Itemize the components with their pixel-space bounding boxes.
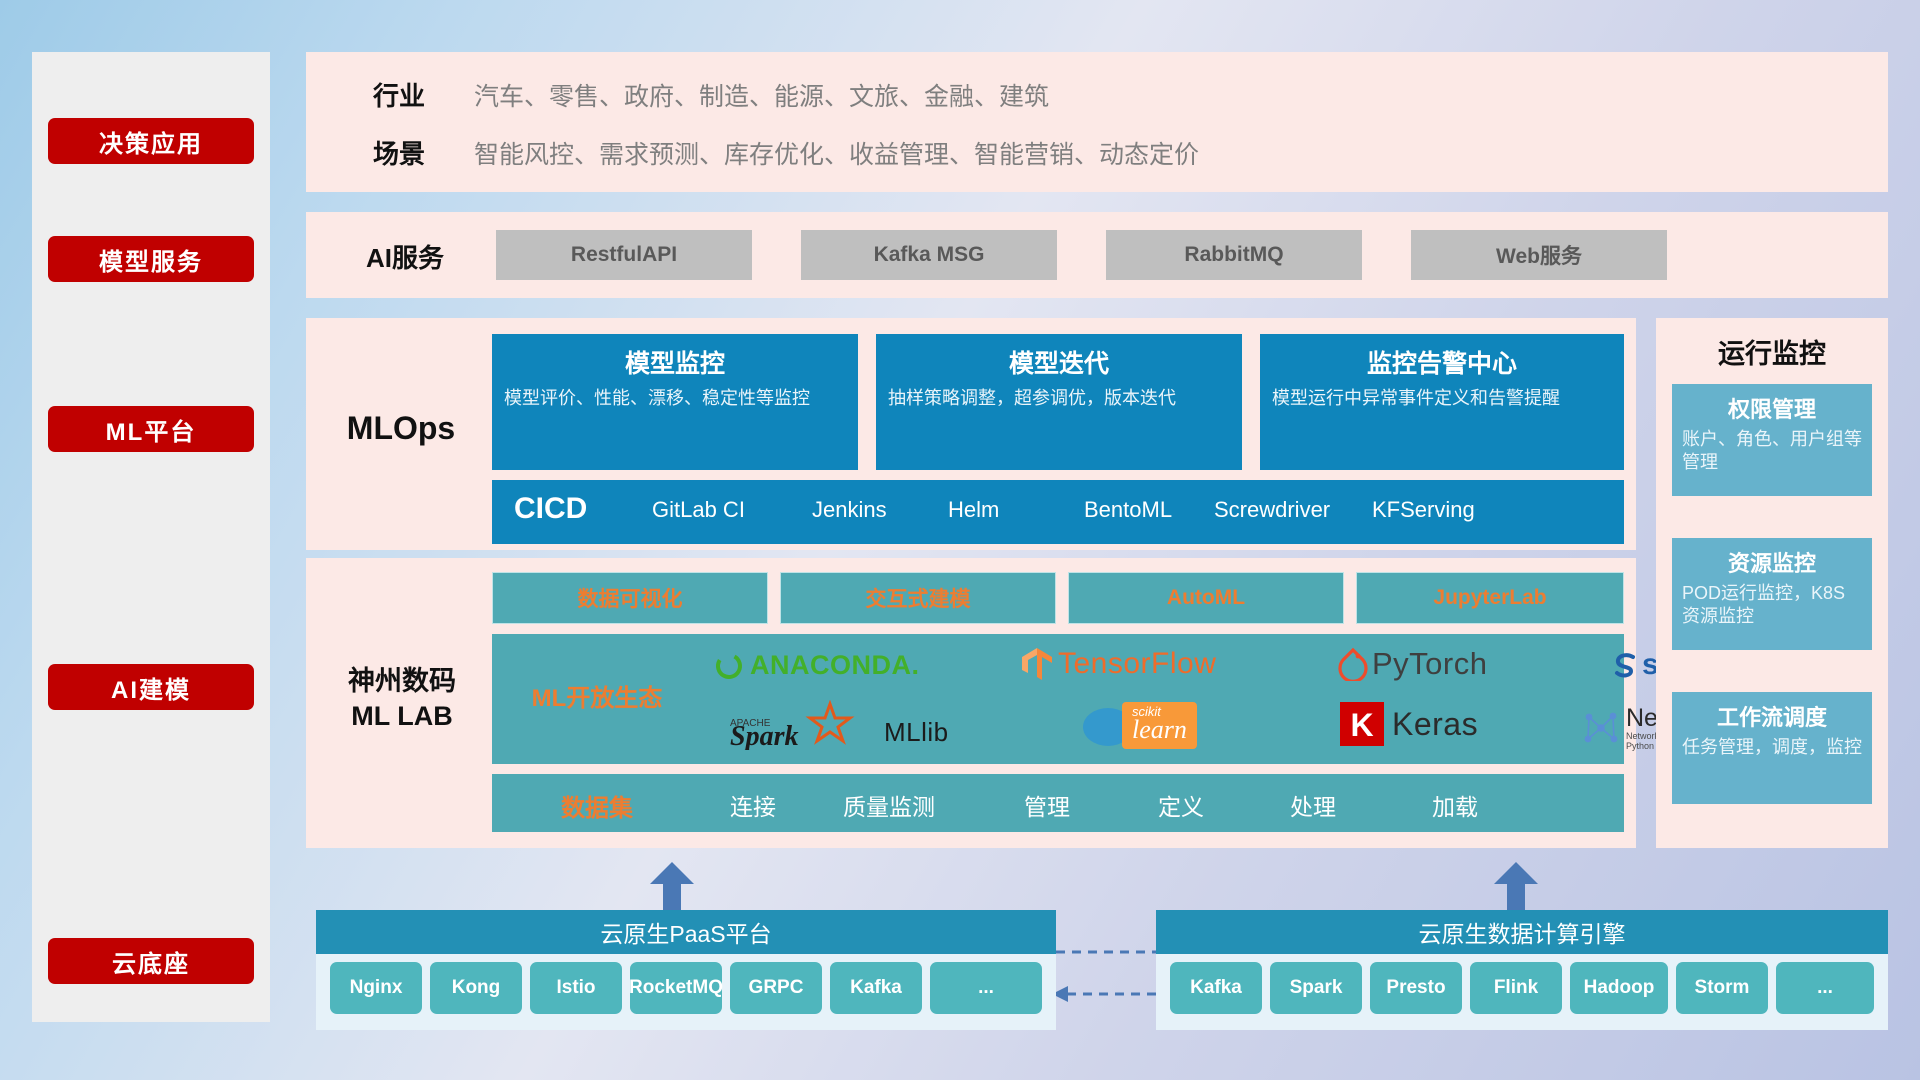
dataset-item-load[interactable]: 加载 (1390, 788, 1520, 822)
mlops-card-desc: 模型评价、性能、漂移、稳定性等监控 (504, 386, 846, 410)
industry-value: 汽车、零售、政府、制造、能源、文旅、金融、建筑 (474, 77, 1049, 113)
architecture-diagram: 决策应用 模型服务 ML平台 AI建模 云底座 行业 汽车、零售、政府、制造、能… (0, 0, 1920, 1080)
paas-chip-kafka[interactable]: Kafka (830, 962, 922, 1014)
compute-chip-hadoop[interactable]: Hadoop (1570, 962, 1668, 1014)
cicd-item-bentoml[interactable]: BentoML (1084, 496, 1196, 524)
keras-logo: K Keras (1340, 702, 1478, 746)
mlops-card-desc: 抽样策略调整，超参调优，版本迭代 (888, 386, 1230, 410)
service-chip-kafka-msg[interactable]: Kafka MSG (801, 230, 1057, 280)
paas-chip-nginx[interactable]: Nginx (330, 962, 422, 1014)
svg-text:Spark: Spark (730, 721, 798, 750)
mlops-card-model-monitoring[interactable]: 模型监控 模型评价、性能、漂移、稳定性等监控 (492, 334, 858, 470)
runtime-monitor-panel: 运行监控 权限管理 账户、角色、用户组等管理 资源监控 POD运行监控，K8S资… (1656, 318, 1888, 848)
compute-engine-group: 云原生数据计算引擎 Kafka Spark Presto Flink Hadoo… (1156, 910, 1888, 1030)
tool-chip-interactive-modeling[interactable]: 交互式建模 (780, 572, 1056, 624)
compute-chip-spark[interactable]: Spark (1270, 962, 1362, 1014)
anaconda-logo: ANACONDA. (714, 650, 920, 681)
ml-lab-label: 神州数码 ML LAB (312, 664, 492, 734)
scikit-learn-logo: scikit learn (1080, 702, 1197, 749)
stage-chip-cloud-base[interactable]: 云底座 (48, 938, 254, 984)
mlops-card-title: 模型监控 (504, 344, 846, 380)
industry-row: 行业 汽车、零售、政府、制造、能源、文旅、金融、建筑 (324, 76, 1049, 113)
monitor-card-resource[interactable]: 资源监控 POD运行监控，K8S资源监控 (1672, 538, 1872, 650)
monitor-card-title: 工作流调度 (1682, 700, 1862, 732)
compute-chip-kafka[interactable]: Kafka (1170, 962, 1262, 1014)
ml-ecosystem-label: ML开放生态 (512, 678, 682, 713)
stage-chip-model-service[interactable]: 模型服务 (48, 236, 254, 282)
compute-chip-presto[interactable]: Presto (1370, 962, 1462, 1014)
service-chip-rabbitmq[interactable]: RabbitMQ (1106, 230, 1362, 280)
runtime-monitor-title: 运行监控 (1656, 332, 1888, 371)
paas-chip-istio[interactable]: Istio (530, 962, 622, 1014)
paas-chip-kong[interactable]: Kong (430, 962, 522, 1014)
cicd-bar: CICD GitLab CI Jenkins Helm BentoML Scre… (492, 480, 1624, 544)
monitor-card-desc: POD运行监控，K8S资源监控 (1682, 582, 1862, 629)
tool-chip-automl[interactable]: AutoML (1068, 572, 1344, 624)
tensorflow-logo: TensorFlow (1020, 646, 1216, 682)
industry-key: 行业 (324, 76, 474, 113)
dataset-item-process[interactable]: 处理 (1248, 788, 1378, 822)
tensorflow-label: TensorFlow (1058, 647, 1216, 681)
service-chip-restfulapi[interactable]: RestfulAPI (496, 230, 752, 280)
service-chip-web-service[interactable]: Web服务 (1411, 230, 1667, 280)
anaconda-label: ANACONDA. (750, 650, 920, 681)
stage-chip-ml-platform[interactable]: ML平台 (48, 406, 254, 452)
monitor-card-desc: 账户、角色、用户组等管理 (1682, 428, 1862, 475)
dataset-item-quality[interactable]: 质量监测 (824, 788, 954, 822)
application-band: 行业 汽车、零售、政府、制造、能源、文旅、金融、建筑 场景 智能风控、需求预测、… (306, 52, 1888, 192)
cicd-item-screwdriver[interactable]: Screwdriver (1214, 496, 1326, 524)
keras-icon: K (1340, 702, 1384, 746)
stage-chip-decision[interactable]: 决策应用 (48, 118, 254, 164)
dataset-label: 数据集 (512, 788, 682, 823)
ai-service-label: AI服务 (330, 238, 480, 275)
arrow-up-compute-icon (1494, 862, 1538, 914)
stage-rail (32, 52, 270, 1022)
tool-chip-jupyterlab[interactable]: JupyterLab (1356, 572, 1624, 624)
paas-chip-rocketmq[interactable]: RocketMQ (630, 962, 722, 1014)
cicd-item-kfserving[interactable]: KFServing (1372, 496, 1484, 524)
mlops-card-alert-center[interactable]: 监控告警中心 模型运行中异常事件定义和告警提醒 (1260, 334, 1624, 470)
monitor-card-workflow[interactable]: 工作流调度 任务管理，调度，监控 (1672, 692, 1872, 804)
anaconda-icon (714, 651, 744, 681)
cicd-item-helm[interactable]: Helm (948, 496, 1060, 524)
networkx-icon (1580, 708, 1622, 748)
learn-label: learn (1132, 715, 1187, 745)
cicd-item-jenkins[interactable]: Jenkins (812, 496, 924, 524)
compute-chip-more[interactable]: ... (1776, 962, 1874, 1014)
scenario-row: 场景 智能风控、需求预测、库存优化、收益管理、智能营销、动态定价 (324, 134, 1199, 171)
compute-engine-title: 云原生数据计算引擎 (1156, 910, 1888, 954)
svg-text:K: K (1350, 707, 1373, 743)
ml-lab-label-line2: ML LAB (312, 699, 492, 734)
pytorch-logo: PyTorch (1338, 646, 1487, 682)
scenario-key: 场景 (324, 134, 474, 171)
mlops-card-title: 监控告警中心 (1272, 344, 1612, 380)
mlops-card-title: 模型迭代 (888, 344, 1230, 380)
tool-chip-data-visualization[interactable]: 数据可视化 (492, 572, 768, 624)
pytorch-label: PyTorch (1372, 646, 1487, 682)
arrow-up-paas-icon (650, 862, 694, 914)
keras-label: Keras (1392, 706, 1478, 743)
scenario-value: 智能风控、需求预测、库存优化、收益管理、智能营销、动态定价 (474, 135, 1199, 171)
paas-chip-grpc[interactable]: GRPC (730, 962, 822, 1014)
ai-modeling-band: 神州数码 ML LAB 数据可视化 交互式建模 AutoML JupyterLa… (306, 558, 1636, 848)
sas-icon (1610, 650, 1640, 680)
dataset-bar: 数据集 连接 质量监测 管理 定义 处理 加载 (492, 774, 1624, 832)
mlops-label: MLOps (316, 410, 486, 447)
monitor-card-title: 权限管理 (1682, 392, 1862, 424)
paas-title: 云原生PaaS平台 (316, 910, 1056, 954)
mllib-label: MLlib (884, 717, 949, 748)
monitor-card-desc: 任务管理，调度，监控 (1682, 736, 1862, 759)
compute-chip-flink[interactable]: Flink (1470, 962, 1562, 1014)
pytorch-icon (1338, 647, 1368, 681)
cicd-title: CICD (514, 492, 587, 526)
mlops-card-desc: 模型运行中异常事件定义和告警提醒 (1272, 386, 1612, 410)
ml-lab-label-line1: 神州数码 (312, 664, 492, 699)
scikit-learn-wordmark: scikit learn (1122, 702, 1197, 749)
mlops-band: MLOps 模型监控 模型评价、性能、漂移、稳定性等监控 模型迭代 抽样策略调整… (306, 318, 1636, 550)
tensorflow-icon (1020, 646, 1054, 682)
monitor-card-title: 资源监控 (1682, 546, 1862, 578)
dataset-item-connect[interactable]: 连接 (688, 788, 818, 822)
ai-service-band: AI服务 RestfulAPI Kafka MSG RabbitMQ Web服务 (306, 212, 1888, 298)
spark-mllib-logo: APACHE Spark MLlib (730, 700, 949, 750)
cicd-item-gitlab-ci[interactable]: GitLab CI (652, 496, 764, 524)
spark-icon: APACHE Spark (730, 700, 880, 750)
stage-chip-ai-modeling[interactable]: AI建模 (48, 664, 254, 710)
paas-group: 云原生PaaS平台 Nginx Kong Istio RocketMQ GRPC… (316, 910, 1056, 1030)
dataset-item-manage[interactable]: 管理 (982, 788, 1112, 822)
compute-chip-storm[interactable]: Storm (1676, 962, 1768, 1014)
paas-chip-more[interactable]: ... (930, 962, 1042, 1014)
dataset-item-define[interactable]: 定义 (1116, 788, 1246, 822)
monitor-card-permission[interactable]: 权限管理 账户、角色、用户组等管理 (1672, 384, 1872, 496)
ml-ecosystem-box: ML开放生态 ANACONDA. TensorFlow (492, 634, 1624, 764)
mlops-card-model-iteration[interactable]: 模型迭代 抽样策略调整，超参调优，版本迭代 (876, 334, 1242, 470)
